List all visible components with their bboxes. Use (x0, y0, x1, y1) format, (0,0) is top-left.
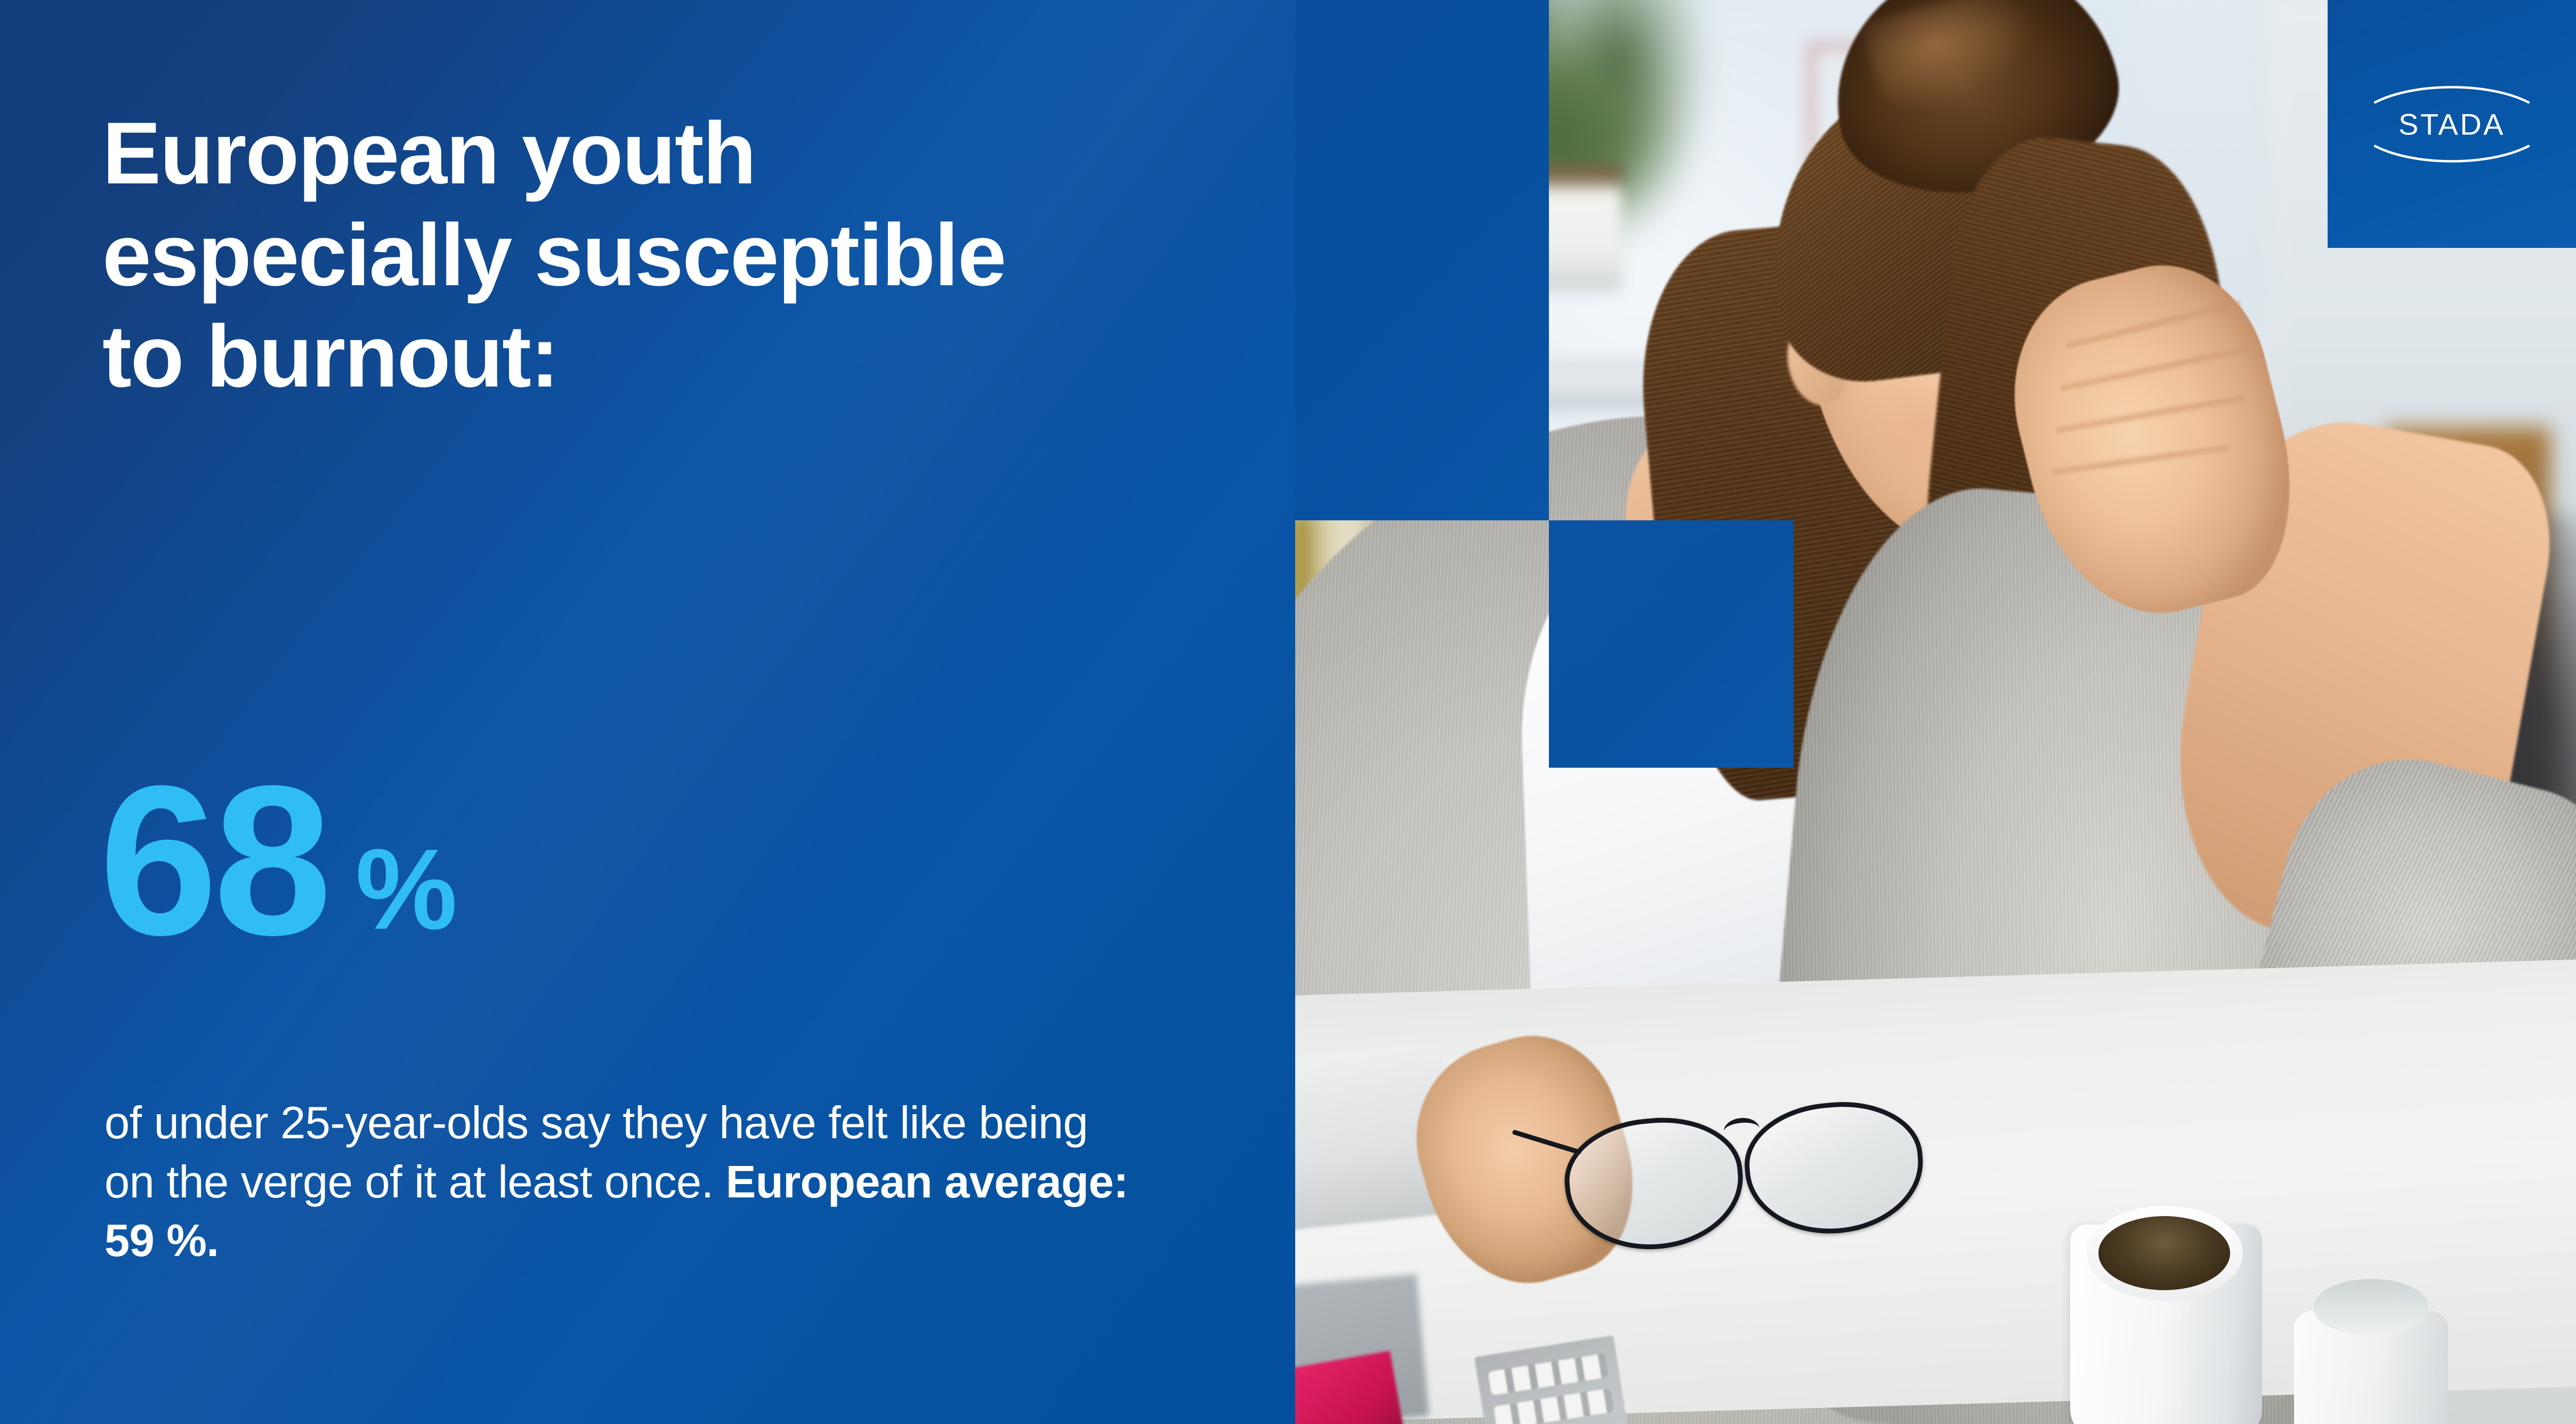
stada-logo[interactable]: STADA (2328, 0, 2576, 248)
stada-wordmark: STADA (2372, 107, 2532, 141)
statistic-block: 68 % (99, 767, 456, 954)
mosaic-block-middle (1549, 520, 1794, 768)
mosaic-block-top (1295, 0, 1549, 520)
page-title: European youth especially susceptible to… (102, 102, 1254, 407)
coffee-liquid (2098, 1216, 2231, 1290)
statistic-unit: % (356, 832, 456, 946)
statistic-value: 68 (99, 767, 328, 954)
second-cup-rim (2313, 1279, 2428, 1336)
stada-lens-icon: STADA (2372, 79, 2532, 170)
infographic-canvas: European youth especially susceptible to… (0, 0, 2576, 1424)
body-text: of under 25-year-olds say they have felt… (104, 1094, 1144, 1271)
